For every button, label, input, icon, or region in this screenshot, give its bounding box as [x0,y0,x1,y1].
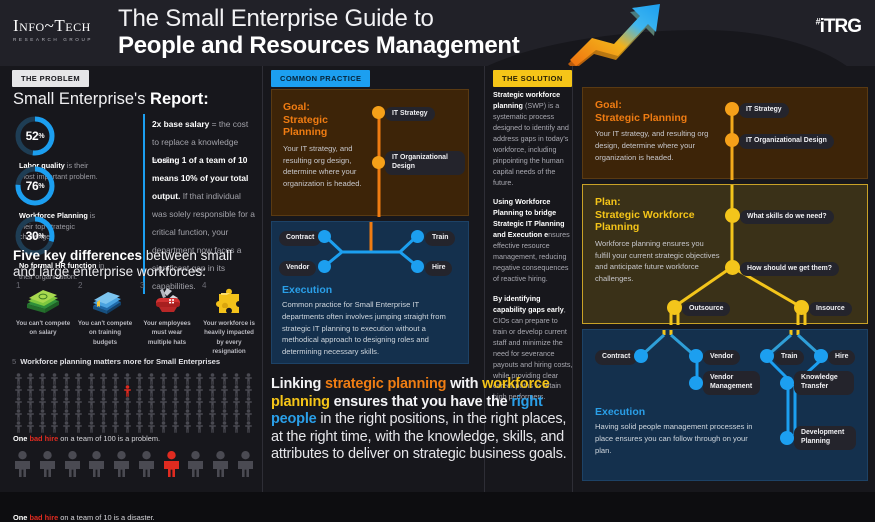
sol-node-dot-vendor-management [689,376,703,390]
person-figure [25,396,37,408]
person-figure [37,408,49,420]
person-figure [49,420,61,432]
sol-node-contract: Contract [595,350,637,365]
person-figure [146,408,158,420]
solution-paragraph-2: Using Workforce Planning to bridge Strat… [493,197,573,285]
person-figure [243,372,255,384]
sol-goal-title-2: Strategic Planning [595,112,725,125]
person-figure [207,420,219,432]
person-figure [73,384,85,396]
person-figure [98,384,110,396]
person-figure [207,384,219,396]
sol-node-dot-insource [794,300,809,315]
person-figure [170,420,182,432]
difference-item-5: 5Workforce planning matters more for Sma… [12,357,260,366]
person-figure [194,396,206,408]
statement-part-3: with [446,376,482,392]
person-figure [170,384,182,396]
cp-node-train: Train [425,231,455,246]
person-figure [231,396,243,408]
statement-strategic-planning: strategic planning [325,376,446,392]
sol-node-insource: Insource [809,302,852,317]
person-figure [63,451,82,482]
person-figure [186,451,205,482]
person-figure [98,372,110,384]
report-heading-bold: Report: [150,90,209,108]
person-figure [61,408,73,420]
person-figure [243,396,255,408]
cp-node-hire: Hire [425,261,452,276]
person-figure [122,396,134,408]
common-practice-goal-box: Goal: Strategic Planning Your IT strateg… [271,89,469,216]
person-figure [49,384,61,396]
person-figure [146,420,158,432]
solution-diagram-column: Goal: Strategic Planning Your IT strateg… [574,66,875,492]
difference-caption-4: Your workforce is heavily impacted by ev… [198,319,260,356]
solution-plan-box: Plan: Strategic Workforce Planning Workf… [582,184,868,324]
person-figure [13,451,32,482]
person-figure [182,396,194,408]
person-figure [219,408,231,420]
person-figure [25,408,37,420]
person-figure [236,451,255,482]
logo-tagline: RESEARCH GROUP [13,37,111,42]
person-figure [170,372,182,384]
person-figure [38,451,57,482]
person-figure [158,408,170,420]
difference-number-1: 1 [16,281,20,290]
person-figure [86,384,98,396]
cp-node-it-strategy: IT Strategy [385,107,435,122]
person-figure [13,372,25,384]
person-figure [134,420,146,432]
cp-execution-body: Common practice for Small Enterprise IT … [282,299,462,358]
person-figure [98,420,110,432]
person-figure [110,372,122,384]
sol-node-knowledge-transfer: Knowledge Transfer [794,371,854,395]
person-figure [37,396,49,408]
cp-node-dot-it-strategy [372,106,385,119]
donut-chart-52: 52% [13,114,57,158]
sol-node-dot-hire [814,349,828,363]
sol-node-vendor-management: Vendor Management [703,371,760,395]
common-practice-execution-box: Contract Vendor Train Hire Execution Com… [271,221,469,364]
person-figure [231,372,243,384]
person-figure [194,384,206,396]
sol-node-dot-it-org-design [725,133,739,147]
difference-number-3: 3 [140,281,144,290]
person-figure [194,372,206,384]
cp-execution-title: Execution [282,284,462,296]
growth-arrow-icon [560,0,680,66]
person-figure [73,372,85,384]
swiss-army-knife-icon [136,283,198,319]
person-figure [61,420,73,432]
difference-item-1: 1 You can't compete on salary [12,283,74,356]
five-heading-bold: Five key differences [13,248,142,263]
itrg-brand-mark: #iTRG [816,16,861,38]
cp-node-dot-hire [411,260,424,273]
team-of-100-figures [13,372,255,432]
sol-node-it-org-design: IT Organizational Design [739,134,834,149]
person-figure [137,451,156,482]
person-figure [73,408,85,420]
cp-node-dot-it-org-design [372,156,385,169]
header-bar: Info~Tech RESEARCH GROUP The Small Enter… [0,0,875,66]
itrg-text: iTRG [820,16,861,37]
cp-node-dot-contract [318,230,331,243]
person-figure [98,396,110,408]
sol-execution-body: Having solid people management processes… [595,421,763,456]
cp-goal-title-1: Goal: [283,101,367,114]
person-figure [194,420,206,432]
differences-icon-row: 1 You can't compete on salary 2 [12,283,260,356]
person-figure [243,384,255,396]
person-figure [122,420,134,432]
report-heading: Small Enterprise's Report: [13,90,209,109]
person-figure [231,420,243,432]
statement-part-5: ensures that you have the [330,394,512,410]
person-figure [86,420,98,432]
person-figure [61,396,73,408]
donut-chart-76: 76% [13,164,57,208]
cp-goal-title-2: Strategic Planning [283,114,367,139]
person-figure [49,396,61,408]
person-figure [122,384,134,396]
five-differences-heading: Five key differences between small and l… [13,248,255,280]
difference-number-2: 2 [78,281,82,290]
cp-node-dot-train [411,230,424,243]
person-figure [182,372,194,384]
person-figure [211,451,230,482]
person-figure [243,420,255,432]
caption-team-100: One bad hire on a team of 100 is a probl… [13,434,160,443]
person-figure [207,408,219,420]
person-figure [194,408,206,420]
person-figure [86,372,98,384]
donut-value-76: 76% [13,164,57,208]
cp-node-dot-vendor [318,260,331,273]
person-figure [158,396,170,408]
page-title: The Small Enterprise Guide to People and… [118,6,520,60]
person-figure [37,372,49,384]
person-figure [158,384,170,396]
solution-paragraph-1: Strategic workforce planning (SWP) is a … [493,90,573,188]
person-figure [110,396,122,408]
person-figure [49,408,61,420]
logo-wordmark: Info~Tech [13,17,111,34]
person-figure [122,372,134,384]
person-figure [219,420,231,432]
sol-execution-title: Execution [595,406,763,418]
difference-caption-1: You can't compete on salary [12,319,74,338]
person-figure [146,384,158,396]
person-figure [98,408,110,420]
person-figure [170,408,182,420]
sol-node-dot-outsource [667,300,682,315]
difference-item-2: 2 You can't compete on training budgets [74,283,136,356]
difference-item-3: 3 Your employees must wear multiple [136,283,198,356]
person-figure [86,408,98,420]
cp-goal-body: Your IT strategy, and resulting org desi… [283,143,367,190]
sol-node-hire: Hire [828,350,855,365]
person-figure [13,396,25,408]
sol-node-development-planning: Development Planning [794,426,856,450]
cp-node-it-org-design: IT Organizational Design [385,151,465,175]
sol-node-dot-development-planning [780,431,794,445]
infographic-page: Info~Tech RESEARCH GROUP The Small Enter… [0,0,875,492]
closing-statement: Linking strategic planning with workforc… [271,376,567,464]
difference-caption-5: Workforce planning matters more for Smal… [20,357,220,366]
person-figure [25,420,37,432]
sol-node-vendor: Vendor [703,350,740,365]
cp-node-contract: Contract [279,231,321,246]
person-figure [110,420,122,432]
person-figure [219,384,231,396]
solution-execution-box: Contract Vendor Vendor Management Train … [582,329,868,481]
person-figure [134,396,146,408]
solution-goal-box: Goal: Strategic Planning Your IT strateg… [582,87,868,179]
team-of-10-figures [13,451,255,482]
person-figure [112,451,131,482]
sol-node-dot-vendor [689,349,703,363]
person-figure [13,408,25,420]
person-figure [170,396,182,408]
sol-node-how-get-them: How should we get them? [740,262,839,277]
sol-node-dot-knowledge-transfer [780,376,794,390]
sol-goal-body: Your IT strategy, and resulting org desi… [595,128,725,163]
person-figure [73,396,85,408]
person-figure [13,420,25,432]
person-figure [87,451,106,482]
person-figure [110,408,122,420]
caption-team-10: One bad hire on a team of 10 is a disast… [13,513,155,522]
fact-lead-1: 2x base salary [152,119,209,129]
donut-value-52: 52% [13,114,57,158]
person-figure [37,420,49,432]
difference-caption-3: Your employees must wear multiple hats [136,319,198,347]
statement-part-1: Linking [271,376,325,392]
person-figure [146,396,158,408]
person-figure [207,396,219,408]
person-figure [158,420,170,432]
person-figure [158,372,170,384]
person-figure [110,384,122,396]
person-figure [25,372,37,384]
sol-node-dot-contract [634,349,648,363]
person-figure [219,396,231,408]
person-figure [162,451,181,482]
sol-node-what-skills: What skills do we need? [740,210,834,225]
person-figure [231,384,243,396]
person-figure [243,408,255,420]
person-figure [219,372,231,384]
person-figure [182,408,194,420]
person-figure [231,408,243,420]
person-figure [25,384,37,396]
person-figure [122,408,134,420]
sol-node-dot-what-skills [725,208,740,223]
sol-node-dot-it-strategy [725,102,739,116]
difference-caption-2: You can't compete on training budgets [74,319,136,347]
cp-node-vendor: Vendor [279,261,316,276]
report-heading-light: Small Enterprise's [13,90,150,108]
person-figure [134,372,146,384]
title-line-1: The Small Enterprise Guide to [118,6,520,33]
money-stack-icon [12,283,74,319]
sol-node-dot-how-get-them [725,260,740,275]
person-figure [37,384,49,396]
person-figure [134,408,146,420]
person-figure [207,372,219,384]
book-icon [74,283,136,319]
person-figure [86,396,98,408]
person-figure [61,372,73,384]
problem-column: Small Enterprise's Report: 52% Labor qua… [0,66,262,492]
person-figure [182,384,194,396]
difference-item-4: 4 Your workforce is heavily impacted by … [198,283,260,356]
difference-number-5: 5 [12,357,16,366]
sol-goal-title-1: Goal: [595,99,725,112]
sol-node-outsource: Outsource [682,302,730,317]
sol-node-it-strategy: IT Strategy [739,103,789,118]
person-figure [134,384,146,396]
person-figure [61,384,73,396]
title-line-2: People and Resources Management [118,33,520,60]
person-figure [146,372,158,384]
puzzle-piece-icon [198,283,260,319]
person-figure [49,372,61,384]
difference-number-4: 4 [202,281,206,290]
person-figure [182,420,194,432]
sol-node-train: Train [774,350,804,365]
person-figure [13,384,25,396]
info-tech-logo: Info~Tech RESEARCH GROUP [13,17,111,42]
sol-node-dot-train [760,349,774,363]
person-figure [73,420,85,432]
